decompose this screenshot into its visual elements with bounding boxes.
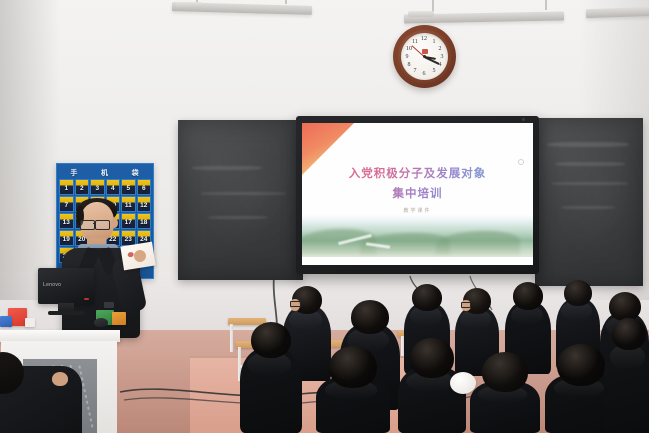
orange-box xyxy=(112,312,126,325)
clock-numeral-5: 5 xyxy=(430,67,438,75)
pocket-header-char-2: 机 xyxy=(101,168,109,178)
attendee-head xyxy=(564,280,592,306)
light-rod-2 xyxy=(285,0,287,4)
attendee-head xyxy=(513,282,543,310)
pocket-3[interactable]: 3 xyxy=(90,179,105,195)
presenter-jacket-logo xyxy=(104,302,114,308)
clock-numeral-12: 12 xyxy=(420,35,428,43)
lectern-monitor[interactable]: Lenovo xyxy=(38,268,94,314)
monitor-base xyxy=(48,311,84,315)
glasses-bridge-icon xyxy=(93,223,96,224)
blue-box xyxy=(0,316,12,327)
light-rod-4 xyxy=(545,0,547,10)
presenter-hand xyxy=(134,250,146,262)
monitor-power-led xyxy=(84,298,89,300)
clock-numeral-2: 2 xyxy=(436,45,444,53)
slide-background-photo xyxy=(302,215,533,257)
pocket-6[interactable]: 6 xyxy=(137,179,152,195)
foreground-attendee-hand xyxy=(52,372,68,386)
ceiling-light-1-cap xyxy=(176,2,202,8)
pocket-number-label: 3 xyxy=(95,184,99,194)
pocket-2[interactable]: 2 xyxy=(75,179,90,195)
monitor-brand-label: Lenovo xyxy=(43,282,61,288)
attendee-head xyxy=(482,352,528,392)
slide-subtitle: 教学课件 xyxy=(302,207,533,214)
attendee-head xyxy=(410,338,454,378)
pocket-number-label: 6 xyxy=(142,184,146,194)
pocket-5[interactable]: 5 xyxy=(121,179,136,195)
attendee-glasses-icon xyxy=(290,301,301,307)
pocket-number-label: 5 xyxy=(126,184,130,194)
attendee-head xyxy=(612,318,646,350)
slide-footer-bar xyxy=(302,257,533,265)
pocket-4[interactable]: 4 xyxy=(106,179,121,195)
clock-numeral-9: 9 xyxy=(403,53,411,61)
foreground-attendee xyxy=(0,352,100,433)
screen-ir-sensor xyxy=(522,118,525,121)
attendee-head xyxy=(329,346,377,388)
attendee-glasses-icon xyxy=(461,302,471,308)
wall-shadow-left xyxy=(0,0,60,300)
slide-title-line2: 集中培训 xyxy=(302,185,533,201)
presenter-ear xyxy=(111,218,118,228)
white-box xyxy=(25,318,35,327)
slide-title-line1: 入党积极分子及发展对象 xyxy=(302,165,533,181)
attendee-9 xyxy=(316,346,390,433)
attendee-11 xyxy=(470,352,540,433)
clock-center-pin xyxy=(423,55,426,58)
interactive-whiteboard[interactable]: 入党积极分子及发展对象 集中培训 教学课件 xyxy=(296,116,539,274)
blackboard-right xyxy=(535,118,643,286)
pocket-header-char-3: 袋 xyxy=(132,168,140,178)
pocket-header-char-1: 手 xyxy=(70,168,78,178)
clock-numeral-8: 8 xyxy=(405,61,413,69)
clock-face: 12 1 2 3 4 5 6 7 8 9 10 11 xyxy=(401,33,448,80)
attendee-head xyxy=(557,344,605,386)
clock-numeral-6: 6 xyxy=(420,70,428,78)
attendee-13 xyxy=(604,318,649,433)
glasses-left-lens-icon xyxy=(80,220,95,230)
clock-brand-logo xyxy=(422,49,428,54)
blackboard-left xyxy=(178,120,303,280)
attendee-head xyxy=(251,322,291,358)
monitor-screen[interactable]: Lenovo xyxy=(38,268,94,304)
classroom-scene: 12 1 2 3 4 5 6 7 8 9 10 11 xyxy=(0,0,649,433)
ceiling-light-2-cap xyxy=(408,11,434,17)
glasses-right-lens-icon xyxy=(95,220,110,230)
computer-mouse[interactable] xyxy=(94,318,108,327)
wall-clock: 12 1 2 3 4 5 6 7 8 9 10 11 xyxy=(393,25,456,88)
attendee-head xyxy=(351,300,389,334)
white-scrunchie xyxy=(450,372,476,394)
attendee-head xyxy=(609,292,641,321)
attendee-8 xyxy=(240,322,302,433)
attendee-head xyxy=(412,284,442,311)
pocket-number-label: 1 xyxy=(64,184,68,194)
pocket-1[interactable]: 1 xyxy=(59,179,74,195)
pocket-chart-header: 手 机 袋 xyxy=(59,166,151,179)
clock-numeral-3: 3 xyxy=(438,53,446,61)
pocket-number-label: 2 xyxy=(80,184,84,194)
pocket-number-label: 4 xyxy=(111,184,115,194)
presentation-slide[interactable]: 入党积极分子及发展对象 集中培训 教学课件 xyxy=(302,123,533,265)
